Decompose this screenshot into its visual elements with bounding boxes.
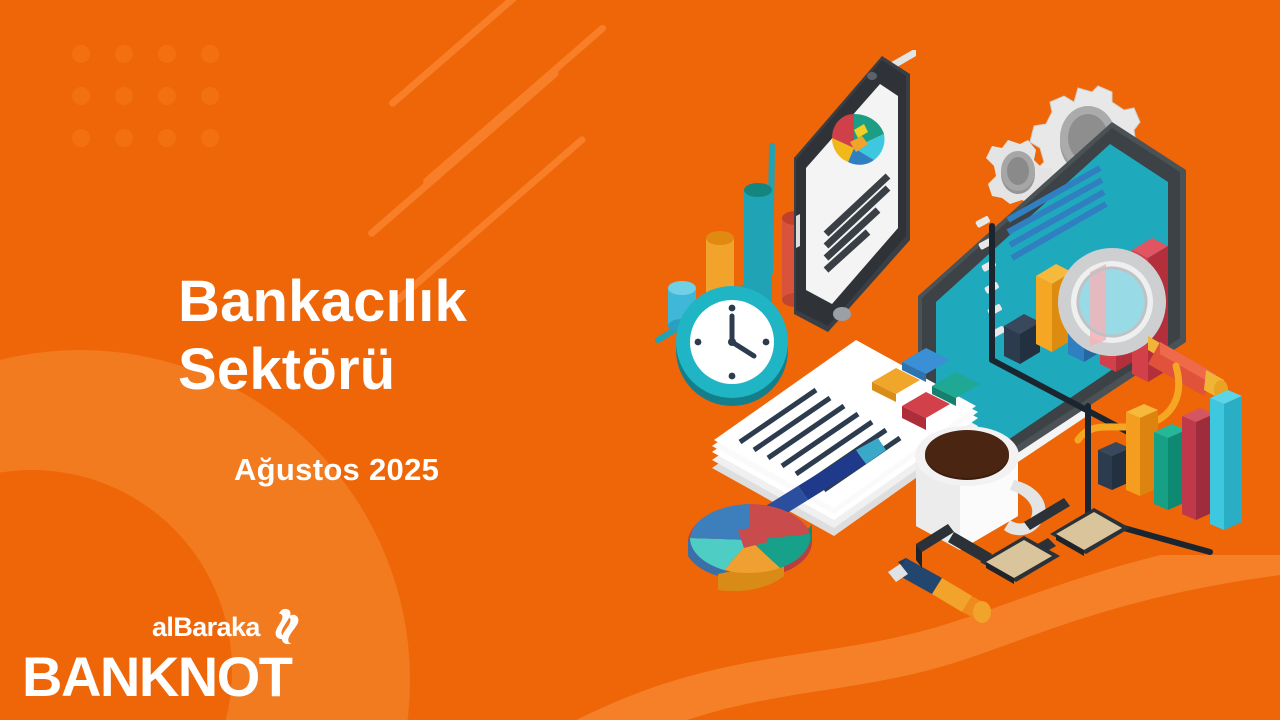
grid-dot: [201, 87, 219, 105]
page-subtitle-date: Ağustos 2025: [234, 452, 439, 488]
dot-grid-decoration: [72, 45, 244, 171]
grid-dot: [72, 87, 90, 105]
grid-dot: [158, 45, 176, 63]
grid-dot: [158, 87, 176, 105]
pie-chart-3d: [688, 504, 812, 594]
grid-dot: [201, 45, 219, 63]
business-analytics-illustration: [620, 50, 1260, 650]
analog-clock-icon: [676, 286, 788, 406]
brand-logo[interactable]: alBaraka BANKNOT: [22, 612, 322, 692]
grid-dot: [72, 129, 90, 147]
diagonal-line: [422, 23, 608, 186]
brand-name-albaraka: alBaraka: [152, 612, 260, 643]
tablet-device: [794, 50, 916, 332]
grid-dot: [201, 129, 219, 147]
grid-dot: [115, 87, 133, 105]
slide-canvas: Bankacılık Sektörü Ağustos 2025 alBaraka…: [0, 0, 1280, 720]
grid-dot: [115, 45, 133, 63]
albaraka-swirl-icon: [268, 606, 304, 646]
grid-dot: [115, 129, 133, 147]
diagonal-line: [388, 0, 581, 108]
fountain-pen-icon: [888, 558, 991, 623]
grid-dot: [158, 129, 176, 147]
diagonal-line: [367, 69, 560, 238]
grid-dot: [72, 45, 90, 63]
product-name-banknot: BANKNOT: [22, 644, 291, 709]
